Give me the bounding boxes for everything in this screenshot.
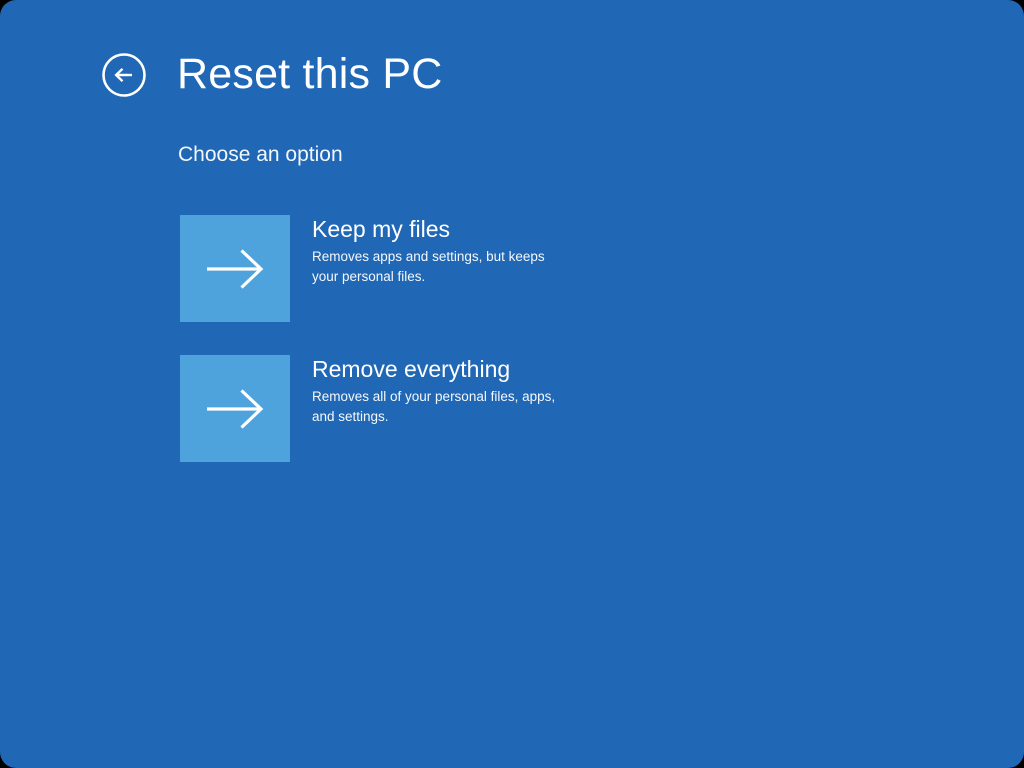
option-keep-my-files[interactable]: Keep my files Removes apps and settings,… xyxy=(180,215,600,322)
option-text: Remove everything Removes all of your pe… xyxy=(290,355,562,426)
page-subtitle: Choose an option xyxy=(178,144,343,165)
option-remove-everything[interactable]: Remove everything Removes all of your pe… xyxy=(180,355,600,462)
options-list: Keep my files Removes apps and settings,… xyxy=(180,215,880,495)
option-text: Keep my files Removes apps and settings,… xyxy=(290,215,562,286)
arrow-right-icon xyxy=(205,387,265,431)
recovery-screen: Reset this PC Choose an option Keep my f… xyxy=(0,0,1024,768)
option-tile[interactable] xyxy=(180,355,290,462)
option-tile[interactable] xyxy=(180,215,290,322)
page-header: Reset this PC xyxy=(101,52,442,98)
arrow-right-icon xyxy=(205,247,265,291)
option-description: Removes apps and settings, but keeps you… xyxy=(312,247,562,286)
option-title: Keep my files xyxy=(312,215,562,243)
option-description: Removes all of your personal files, apps… xyxy=(312,387,562,426)
option-title: Remove everything xyxy=(312,355,562,383)
page-title: Reset this PC xyxy=(177,53,442,96)
back-arrow-circle-icon[interactable] xyxy=(101,52,147,98)
